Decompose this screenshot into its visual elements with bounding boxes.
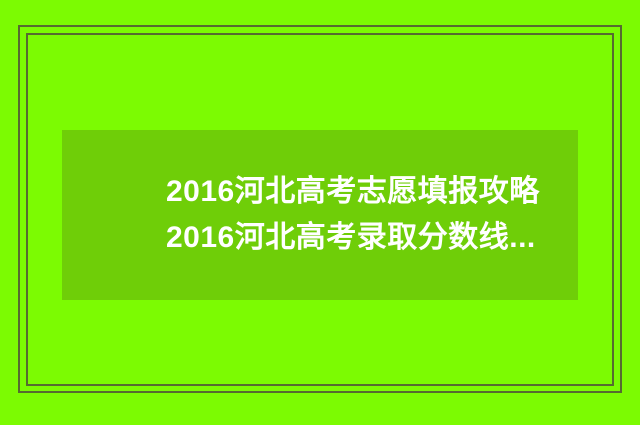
thumbnail-canvas: 2016河北高考志愿填报攻略 2016河北高考录取分数线... — [0, 0, 640, 425]
headline-panel: 2016河北高考志愿填报攻略 2016河北高考录取分数线... — [62, 130, 578, 300]
headline-line-2: 2016河北高考录取分数线... — [166, 216, 536, 260]
headline-line-1: 2016河北高考志愿填报攻略 — [166, 170, 540, 214]
